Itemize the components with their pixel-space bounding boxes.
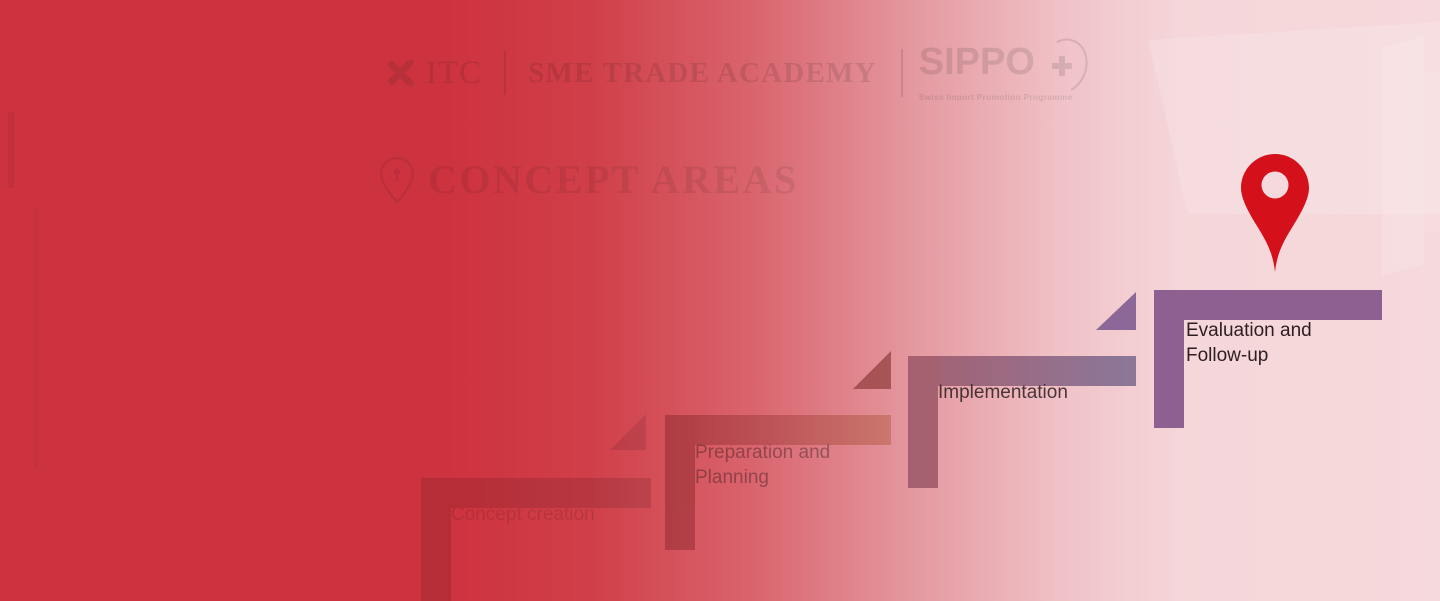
step-label: Implementation [938,380,1158,405]
map-pin-icon [380,157,414,203]
step-bar [1154,290,1382,320]
step-label: Evaluation and Follow-up [1186,318,1386,368]
step-label: Preparation and Planning [695,440,895,490]
header-divider-2 [901,49,903,97]
sippo-logo: SIPPO Swiss Import Promotion Programme [919,44,1085,102]
page-title: CONCEPT AREAS [428,156,799,203]
step-evaluation-and-follow-up[interactable]: Evaluation and Follow-up [1154,290,1382,428]
itc-crossed-mark-icon [380,53,420,93]
page-title-row: CONCEPT AREAS [380,156,799,203]
header-divider-1 [504,51,506,95]
step-riser [908,356,938,488]
academy-title: SME TRADE ACADEMY [528,57,877,90]
step-preparation-and-planning[interactable]: Preparation and Planning [665,415,891,550]
slide-canvas: ITC SME TRADE ACADEMY SIPPO Swiss Import… [0,0,1440,601]
brand-header: ITC SME TRADE ACADEMY SIPPO Swiss Import… [380,44,1085,102]
step-riser [1154,290,1184,428]
sippo-logo-text: SIPPO [919,44,1035,80]
itc-logo-text: ITC [426,55,482,92]
step-riser [421,478,451,601]
swiss-cross-icon [1041,44,1085,90]
step-implementation[interactable]: Implementation [908,356,1136,488]
step-riser [665,415,695,550]
map-pin-marker-icon [1241,154,1309,272]
